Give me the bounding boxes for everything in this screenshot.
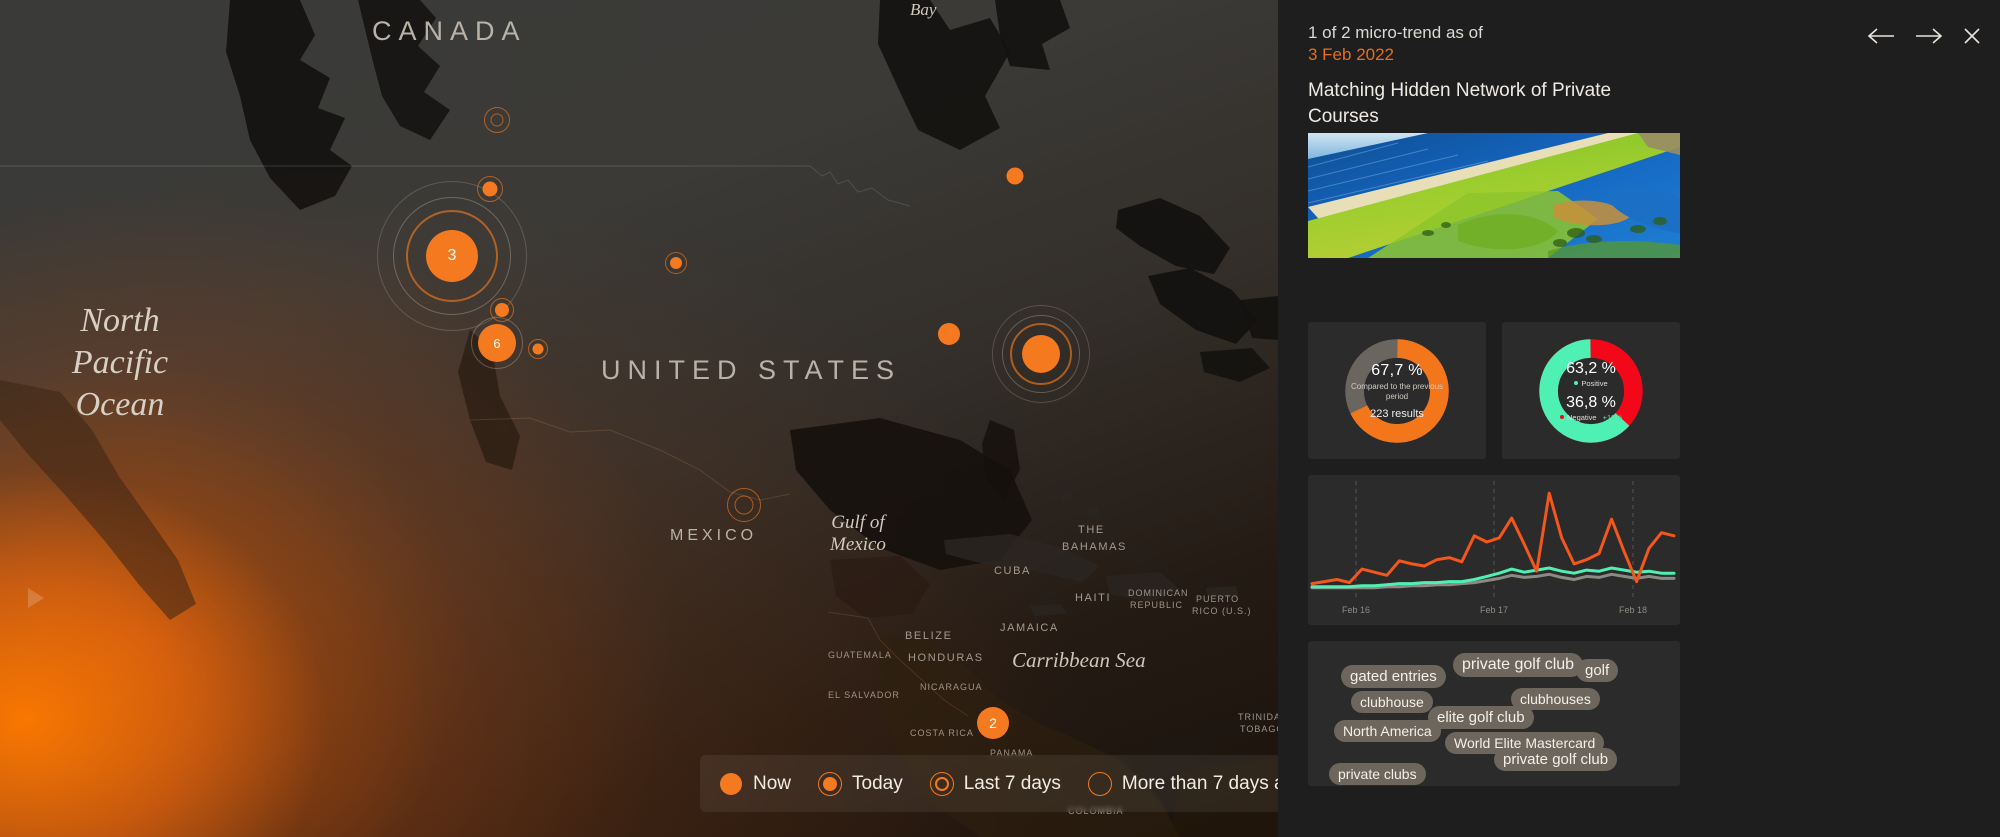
metric-cards: 67,7 % Compared to the previous period 2… [1308, 322, 1680, 786]
tag-chip[interactable]: private golf club [1453, 653, 1583, 677]
map-marker-label: 3 [426, 230, 478, 282]
filled-dot-icon [718, 771, 744, 797]
chart-tick: Feb 17 [1480, 605, 1508, 615]
trend-line-chart [1308, 475, 1680, 625]
legend-label: Now [753, 773, 791, 795]
map-canvas[interactable]: CANADA UNITED STATES MEXICO CUBA HAITI J… [0, 0, 1278, 837]
arrow-left-icon[interactable] [1866, 26, 1896, 46]
sentiment-positive-percent: 63,2 % [1566, 360, 1616, 378]
chart-tick: Feb 16 [1342, 605, 1370, 615]
micro-trend-date: 3 Feb 2022 [1308, 44, 1976, 66]
card-sentiment[interactable]: 63,2 % Positive 36,8 % Negative +19% [1502, 322, 1680, 459]
donut-percent: 67,7 % [1371, 362, 1423, 380]
sentiment-negative-label: Negative [1567, 413, 1597, 422]
chart-x-axis-ticks: Feb 16 Feb 17 Feb 18 [1308, 605, 1680, 619]
chart-tick: Feb 18 [1619, 605, 1647, 615]
detail-panel: 1 of 2 micro-trend as of 3 Feb 2022 [1278, 0, 2000, 837]
trend-thumbnail[interactable] [1308, 133, 1680, 258]
dot-with-ring-icon [817, 771, 843, 797]
sentiment-negative-percent: 36,8 % [1566, 394, 1616, 412]
card-tag-cloud[interactable]: gated entriesprivate golf clubgolfclubho… [1308, 641, 1680, 786]
tag-chip[interactable]: elite golf club [1428, 706, 1534, 729]
tag-chip[interactable]: North America [1334, 720, 1441, 742]
legend-item-last-7-days[interactable]: Last 7 days [929, 771, 1061, 797]
sentiment-negative-legend: Negative +19% [1560, 413, 1622, 422]
sentiment-delta: +19% [1603, 413, 1622, 422]
legend-label: Last 7 days [964, 773, 1061, 795]
map-marker-label: 2 [977, 707, 1009, 739]
legend-label: Today [852, 773, 903, 795]
card-trend-chart[interactable]: Feb 16 Feb 17 Feb 18 [1308, 475, 1680, 625]
sentiment-positive-legend: Positive [1574, 379, 1607, 388]
tag-chip[interactable]: private clubs [1329, 763, 1426, 785]
tag-chip[interactable]: gated entries [1341, 665, 1446, 688]
legend-item-today[interactable]: Today [817, 771, 903, 797]
donut-results: 223 results [1370, 408, 1424, 420]
panel-nav-buttons [1866, 26, 1982, 46]
hollow-ring-icon [1087, 771, 1113, 797]
app-root: CANADA UNITED STATES MEXICO CUBA HAITI J… [0, 0, 2000, 837]
card-compared-to-previous-period[interactable]: 67,7 % Compared to the previous period 2… [1308, 322, 1486, 459]
map-landmass [0, 0, 1278, 837]
tag-chip[interactable]: golf [1576, 659, 1618, 682]
map-marker-label: 6 [478, 324, 516, 362]
arrow-right-icon[interactable] [1914, 26, 1944, 46]
donut-caption: Compared to the previous period [1341, 382, 1453, 402]
legend-item-now[interactable]: Now [718, 771, 791, 797]
sentiment-positive-label: Positive [1581, 379, 1607, 388]
close-icon[interactable] [1962, 26, 1982, 46]
legend-item-more-than-7-days-ago[interactable]: More than 7 days ago [1087, 771, 1278, 797]
map-legend: Now Today Last 7 days Mor [700, 755, 1278, 812]
tag-chip[interactable]: private golf club [1494, 748, 1617, 771]
aerial-golf-course-image [1308, 133, 1680, 258]
tag-chip[interactable]: clubhouse [1351, 691, 1433, 713]
double-ring-icon [929, 771, 955, 797]
panel-title: Matching Hidden Network of Private Cours… [1308, 78, 1638, 129]
legend-label: More than 7 days ago [1122, 773, 1278, 795]
